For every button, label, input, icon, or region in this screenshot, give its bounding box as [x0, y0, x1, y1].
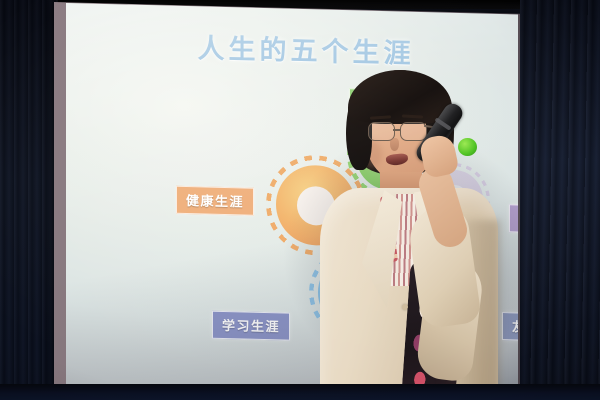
microphone-head-icon [458, 138, 477, 156]
stage-floor [0, 384, 600, 400]
glasses-bridge [393, 129, 401, 131]
blazer-button [402, 304, 408, 310]
slide-label-health: 健康生涯 [176, 186, 254, 216]
speaker-person [318, 70, 503, 400]
presentation-photo: 人生的五个生涯 职业生涯 健康生涯 [0, 0, 600, 400]
stage-curtain-left [0, 0, 58, 400]
slide-label-friend: 友好生涯 [502, 312, 518, 342]
slide-label-emotion: 情感生涯 [509, 204, 518, 234]
slide-label-study: 学习生涯 [212, 311, 290, 341]
nose [390, 138, 399, 151]
hair-front [348, 70, 452, 124]
slide-title: 人生的五个生涯 [156, 25, 456, 72]
stage-curtain-right [520, 0, 600, 400]
